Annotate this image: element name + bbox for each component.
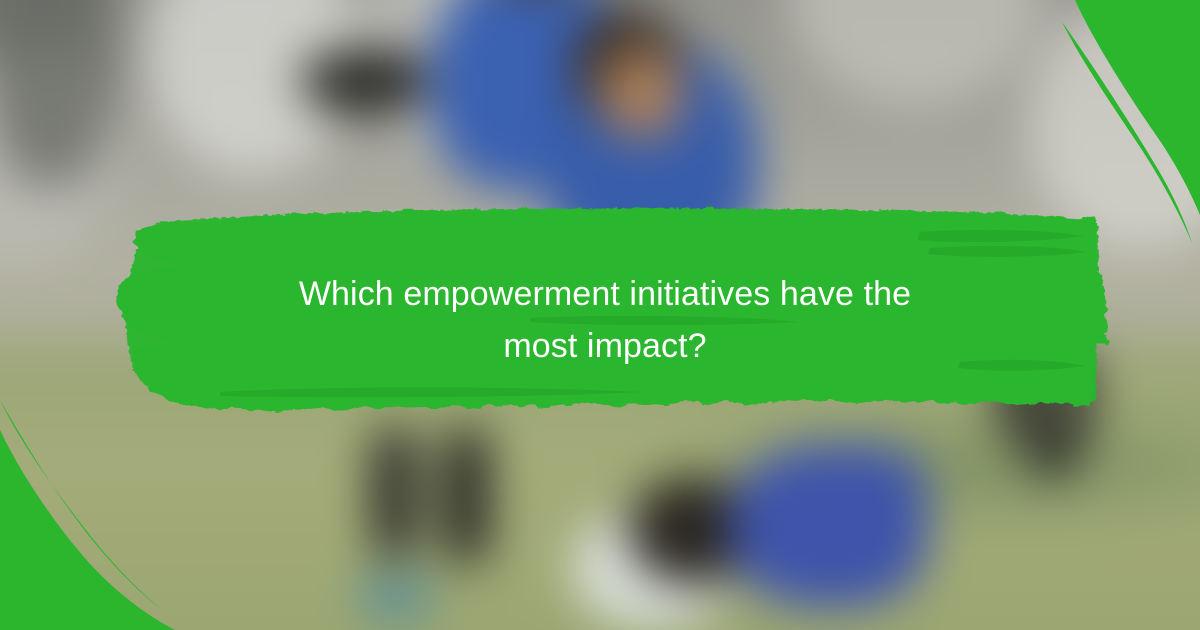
player-arm: [301, 48, 425, 115]
headline-banner: Which empowerment initiatives have the m…: [100, 196, 1110, 436]
player-leg: [443, 428, 488, 563]
player-leg: [372, 428, 417, 558]
headline-line-2: most impact?: [503, 327, 706, 365]
headline-line-1: Which empowerment initiatives have the: [299, 275, 911, 313]
player-face: [600, 48, 684, 139]
player-shoe: [358, 574, 436, 619]
quote-card: Which empowerment initiatives have the m…: [0, 0, 1200, 630]
player-torso: [728, 445, 928, 607]
headline-text: Which empowerment initiatives have the m…: [100, 268, 1110, 372]
